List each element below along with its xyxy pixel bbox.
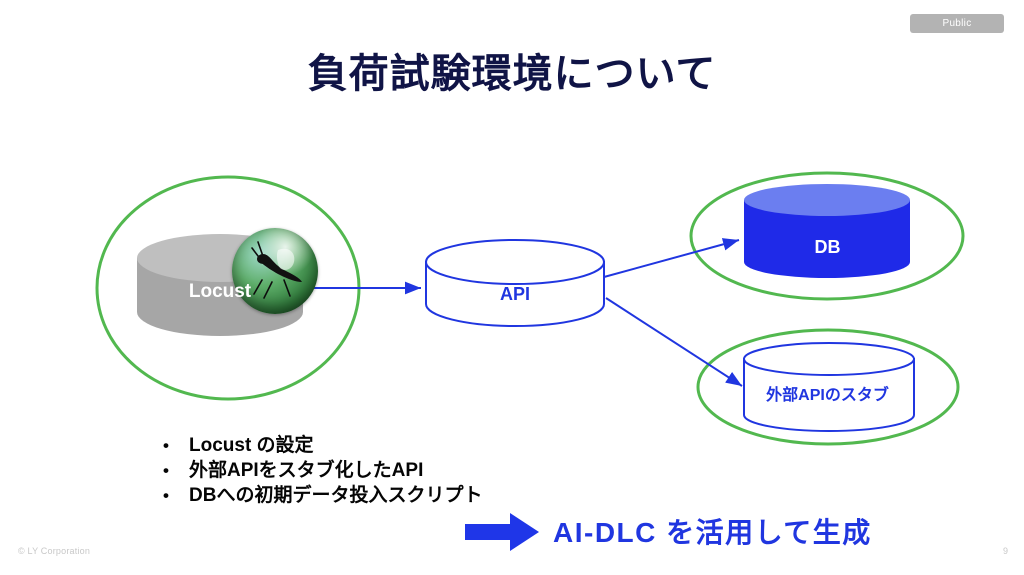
node-label-locust: Locust — [140, 281, 300, 303]
conclusion-text: AI-DLC を活用して生成 — [553, 511, 872, 551]
node-db — [744, 184, 910, 278]
node-label-db: DB — [745, 237, 910, 258]
list-item: • 外部APIをスタブ化したAPI — [163, 459, 593, 483]
slide-canvas: Public 負荷試験環境について — [0, 0, 1024, 575]
list-item: • DBへの初期データ投入スクリプト — [163, 484, 593, 508]
footer-copyright: © LY Corporation — [18, 546, 90, 556]
classification-badge: Public — [910, 14, 1004, 33]
list-item-label: DBへの初期データ投入スクリプト — [189, 484, 482, 508]
list-item: • Locust の設定 — [163, 434, 593, 458]
page-title: 負荷試験環境について — [0, 41, 1024, 99]
node-label-stub: 外部APIのスタブ — [730, 381, 925, 405]
bullet-list: • Locust の設定 • 外部APIをスタブ化したAPI • DBへの初期デ… — [163, 434, 593, 509]
edge-api-to-stub — [606, 298, 742, 386]
node-api — [426, 240, 604, 326]
right-arrow-icon — [465, 513, 539, 551]
bullet-marker: • — [163, 459, 189, 483]
page-number: 9 — [988, 546, 1008, 556]
bullet-marker: • — [163, 484, 189, 508]
list-item-label: 外部APIをスタブ化したAPI — [189, 459, 423, 483]
group-ellipse-db — [691, 173, 963, 299]
list-item-label: Locust の設定 — [189, 434, 314, 458]
bullet-marker: • — [163, 434, 189, 458]
edge-api-to-db — [604, 240, 739, 277]
node-label-api: API — [430, 284, 600, 305]
